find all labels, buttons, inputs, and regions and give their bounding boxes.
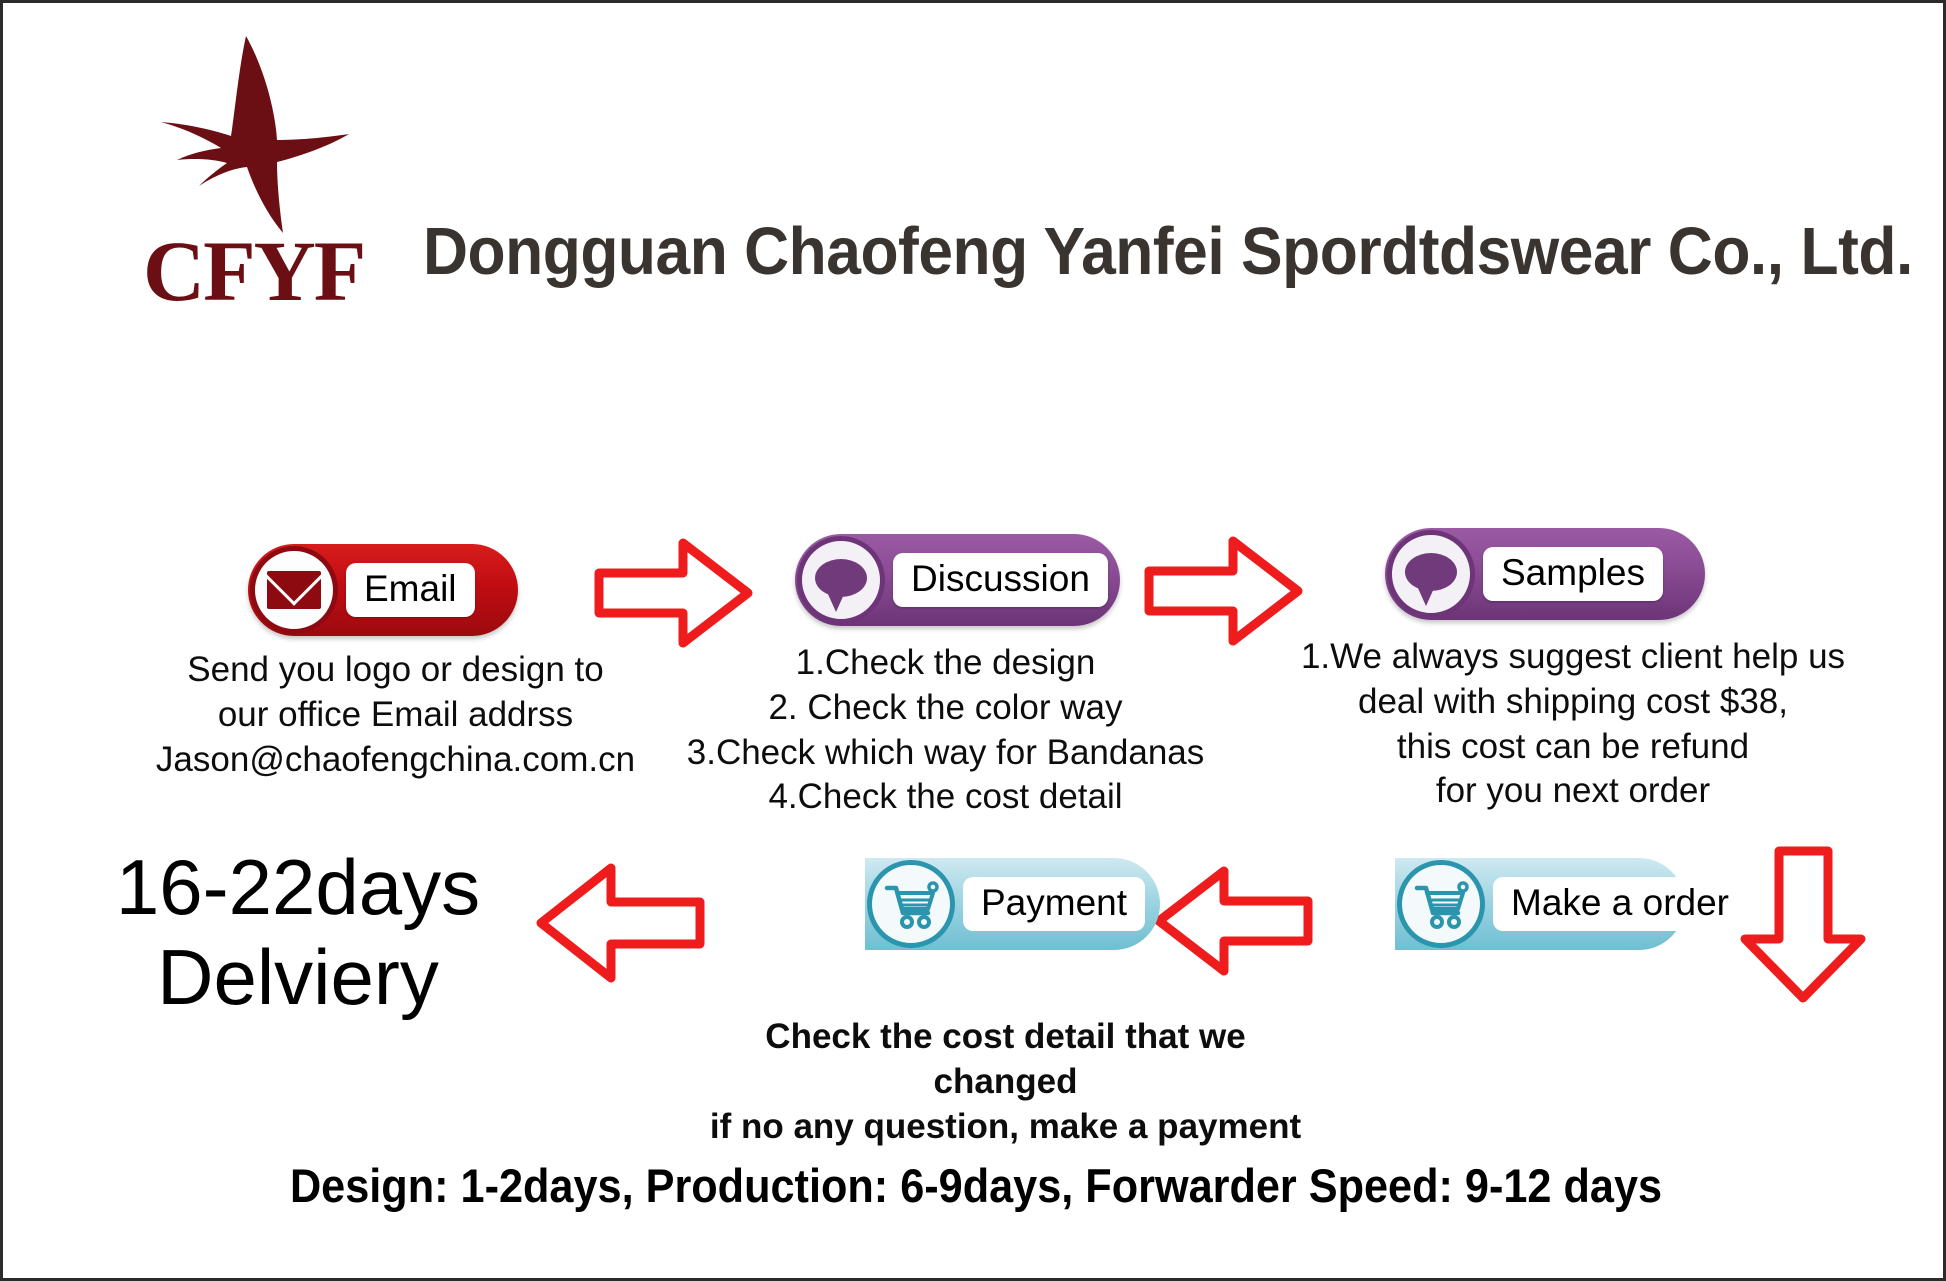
discussion-line-3: 3.Check which way for Bandanas [658, 731, 1233, 776]
discussion-line-2: 2. Check the color way [658, 686, 1233, 731]
shopping-cart-icon [867, 860, 955, 948]
delivery-time-text: 16-22days Delviery [63, 843, 533, 1022]
samples-line-4: for you next order [1273, 769, 1873, 814]
email-line-3: Jason@chaofengchina.com.cn [123, 738, 668, 783]
speech-bubble-icon [797, 536, 885, 624]
email-line-2: our office Email addrss [123, 693, 668, 738]
delivery-line-1: 16-22days [63, 843, 533, 933]
step-description-discussion: 1.Check the design 2. Check the color wa… [658, 641, 1233, 820]
step-label-samples: Samples [1483, 547, 1663, 602]
step-button-make-order[interactable]: Make a order [1395, 858, 1685, 950]
step-description-samples: 1.We always suggest client help us deal … [1273, 635, 1873, 814]
step-description-email: Send you logo or design to our office Em… [123, 648, 668, 782]
step-button-discussion[interactable]: Discussion [795, 534, 1120, 626]
header: CFYF Dongguan Chaofeng Yanfei Spordtdswe… [3, 3, 1946, 383]
arrow-make-order-to-payment-icon [1151, 861, 1316, 986]
speech-bubble-icon [1387, 530, 1475, 618]
logo-wordmark: CFYF [143, 231, 393, 313]
step-label-payment: Payment [963, 877, 1145, 932]
step-button-samples[interactable]: Samples [1385, 528, 1705, 620]
samples-line-1: 1.We always suggest client help us [1273, 635, 1873, 680]
infographic-page: CFYF Dongguan Chaofeng Yanfei Spordtdswe… [0, 0, 1946, 1281]
footer-timeline-text: Design: 1-2days, Production: 6-9days, Fo… [81, 1158, 1871, 1213]
email-line-1: Send you logo or design to [123, 648, 668, 693]
step-button-email[interactable]: Email [248, 544, 518, 636]
step-button-payment[interactable]: Payment [865, 858, 1160, 950]
discussion-line-4: 4.Check the cost detail [658, 775, 1233, 820]
samples-line-3: this cost can be refund [1273, 725, 1873, 770]
arrow-samples-to-make-order-icon [1721, 841, 1886, 1011]
payment-line-2: if no any question, make a payment [693, 1105, 1318, 1150]
step-label-make-order: Make a order [1493, 877, 1747, 932]
swallow-bird-logo-icon [143, 28, 403, 233]
arrow-email-to-discussion-icon [591, 533, 756, 658]
delivery-line-2: Delviery [63, 933, 533, 1023]
step-description-payment: Check the cost detail that we changed if… [693, 1015, 1318, 1149]
step-label-email: Email [346, 563, 475, 618]
company-title: Dongguan Chaofeng Yanfei Spordtdswear Co… [423, 213, 1799, 290]
step-label-discussion: Discussion [893, 553, 1108, 608]
arrow-payment-to-delivery-icon [533, 858, 708, 993]
envelope-icon [250, 546, 338, 634]
samples-line-2: deal with shipping cost $38, [1273, 680, 1873, 725]
shopping-cart-icon [1397, 860, 1485, 948]
payment-line-1: Check the cost detail that we changed [693, 1015, 1318, 1105]
